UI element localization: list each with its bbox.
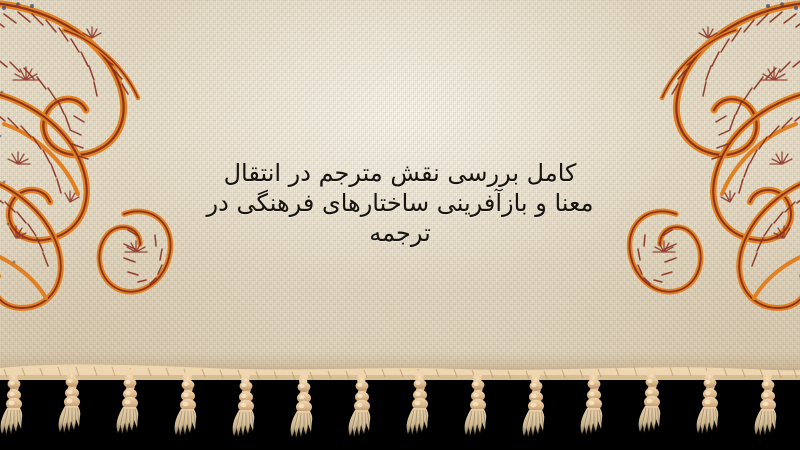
slide-canvas: کامل بررسی نقش مترجم در انتقال معنا و با… — [0, 0, 800, 450]
knotted-tassel-fringe — [0, 358, 800, 450]
title-line-1: کامل بررسی نقش مترجم در انتقال — [150, 158, 650, 188]
title-line-2: معنا و بازآفرینی ساختارهای فرهنگی در — [150, 188, 650, 218]
slide-title: کامل بررسی نقش مترجم در انتقال معنا و با… — [150, 158, 650, 248]
title-line-3: ترجمه — [150, 218, 650, 248]
